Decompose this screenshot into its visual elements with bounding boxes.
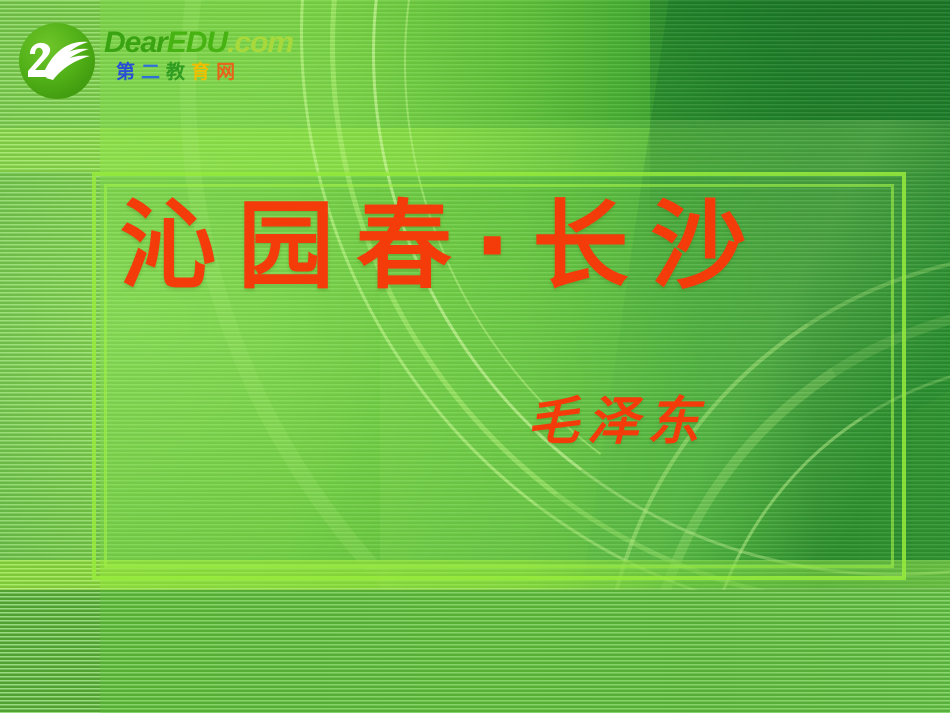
logo-text-block: DearEDU.com 第二教育网 xyxy=(104,26,330,84)
logo-cn-char-4: 育 xyxy=(191,61,216,83)
logo-cn-char-1: 第 xyxy=(116,61,141,83)
background-band-bottom xyxy=(0,590,950,713)
logo-cn-char-5: 网 xyxy=(216,61,241,83)
logo-wordmark: DearEDU.com xyxy=(104,26,330,60)
logo-chinese-name: 第二教育网 xyxy=(104,61,330,84)
logo-cn-char-2: 二 xyxy=(141,61,166,83)
logo-cn-char-3: 教 xyxy=(166,61,191,83)
logo-word-com: .com xyxy=(227,26,293,59)
presentation-slide: DearEDU.com 第二教育网 沁园春·长沙 毛泽东 xyxy=(0,0,950,713)
slide-author: 毛泽东 xyxy=(527,392,707,452)
logo-word-dear: Dear xyxy=(104,26,167,59)
dearedu-circle-logo-icon xyxy=(18,22,96,100)
logo-word-edu: EDU xyxy=(167,26,227,59)
dearedu-logo[interactable]: DearEDU.com 第二教育网 xyxy=(18,22,328,104)
slide-title: 沁园春·长沙 xyxy=(120,176,890,316)
